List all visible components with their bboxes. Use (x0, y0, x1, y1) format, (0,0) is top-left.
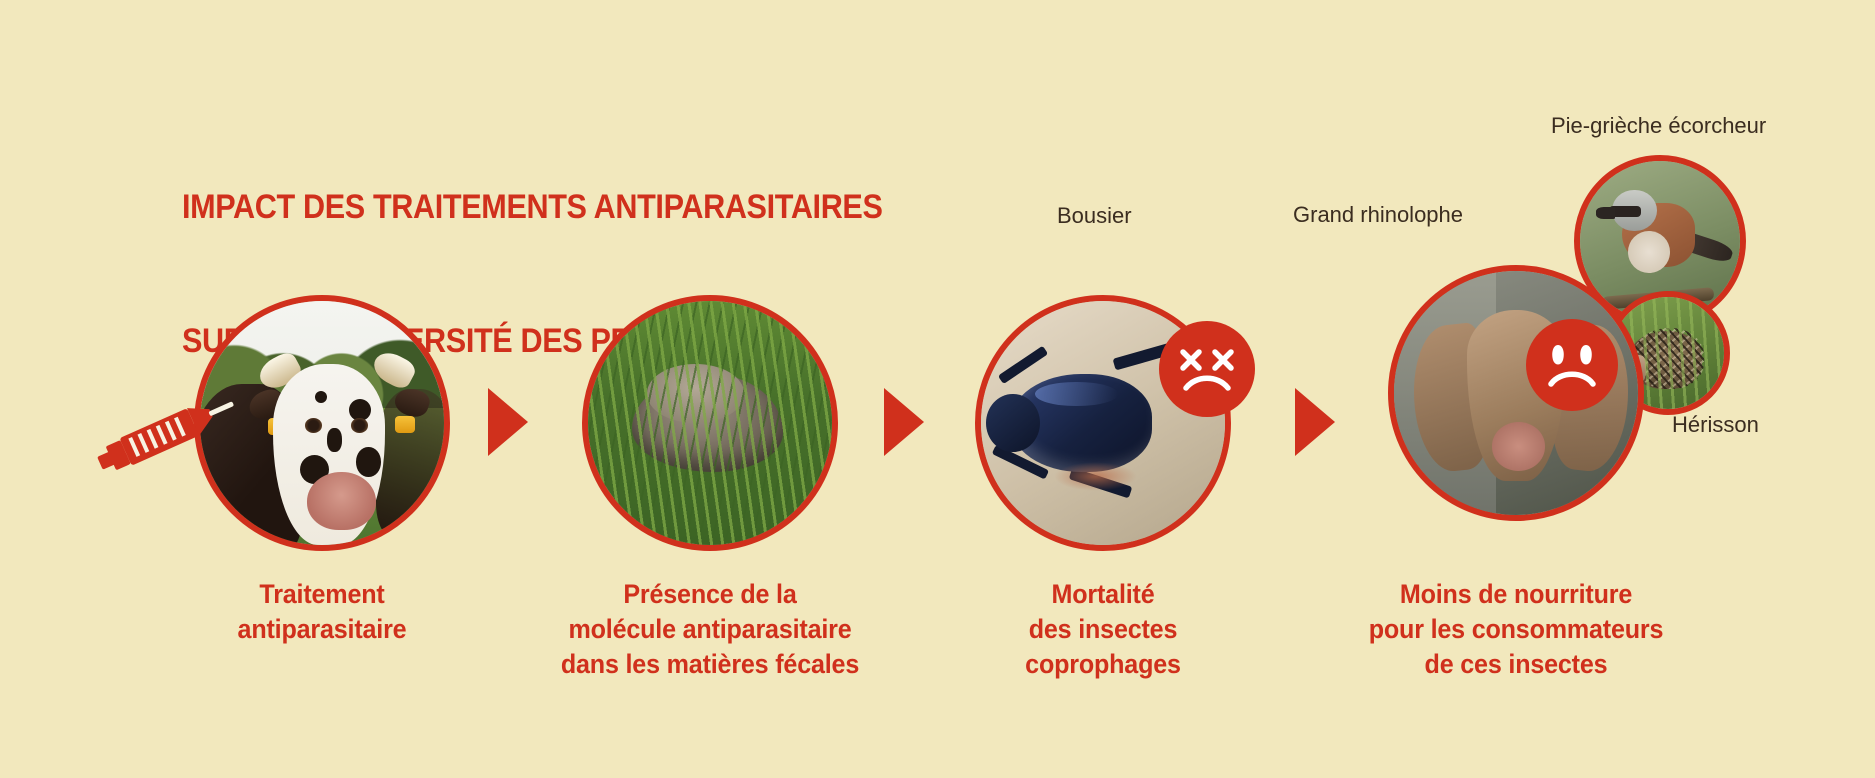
caption-line: dans les matières fécales (518, 647, 901, 682)
title-line-1: IMPACT DES TRAITEMENTS ANTIPARASITAIRES (182, 185, 883, 230)
caption-molecule-in-dung: Présence de la molécule antiparasitaire … (518, 577, 901, 682)
species-label-bousier: Bousier (1057, 203, 1132, 229)
sad-face-icon (1541, 339, 1603, 391)
sad-face-badge (1526, 319, 1618, 411)
caption-line: molécule antiparasitaire (518, 612, 901, 647)
species-label-herisson: Hérisson (1672, 412, 1759, 438)
step-treatment: Traitement antiparasitaire (194, 295, 450, 551)
caption-insect-mortality: Mortalité des insectes coprophages (964, 577, 1243, 682)
caption-line: Traitement (173, 577, 471, 612)
caption-line: Moins de nourriture (1336, 577, 1697, 612)
caption-line: Mortalité (964, 577, 1243, 612)
caption-line: pour les consommateurs (1336, 612, 1697, 647)
syringe-icon (90, 375, 240, 485)
flow-arrow-3 (1295, 388, 1335, 456)
caption-line: Présence de la (518, 577, 901, 612)
species-label-grand-rhinolophe: Grand rhinolophe (1293, 202, 1463, 228)
caption-less-food: Moins de nourriture pour les consommateu… (1336, 577, 1697, 682)
caption-line: des insectes (964, 612, 1243, 647)
caption-line: coprophages (964, 647, 1243, 682)
infographic-canvas: IMPACT DES TRAITEMENTS ANTIPARASITAIRES … (0, 0, 1875, 778)
caption-treatment: Traitement antiparasitaire (173, 577, 471, 647)
step-insect-mortality: Bousier (975, 295, 1231, 551)
caption-line: antiparasitaire (173, 612, 471, 647)
process-flow: Traitement antiparasitaire Présence de l… (0, 295, 1875, 595)
dead-face-icon (1174, 342, 1240, 396)
flow-arrow-1 (488, 388, 528, 456)
flow-arrow-2 (884, 388, 924, 456)
dead-face-badge (1159, 321, 1255, 417)
step-molecule-in-dung: Présence de la molécule antiparasitaire … (582, 295, 838, 551)
caption-line: de ces insectes (1336, 647, 1697, 682)
dung-photo (582, 295, 838, 551)
species-label-pie-grieche-ecorcheur: Pie-grièche écorcheur (1551, 113, 1766, 139)
